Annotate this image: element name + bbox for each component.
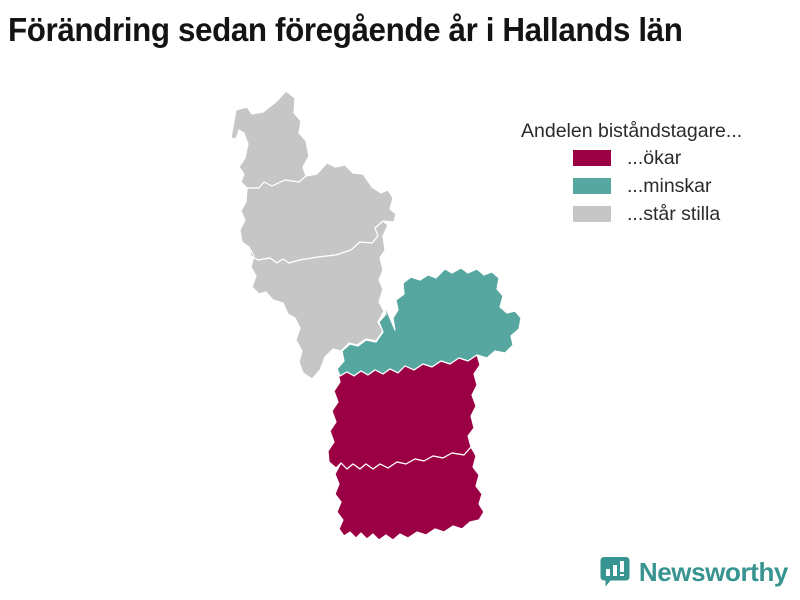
- legend-label-unchanged: ...står stilla: [627, 203, 720, 225]
- page-title: Förändring sedan föregående år i Halland…: [8, 8, 753, 52]
- legend-item-increase[interactable]: ...ökar: [515, 144, 795, 172]
- legend: Andelen biståndstagare... ...ökar ...min…: [515, 118, 795, 228]
- newsworthy-logo[interactable]: Newsworthy: [600, 552, 788, 592]
- legend-title: Andelen biståndstagare...: [515, 118, 795, 144]
- legend-item-decrease[interactable]: ...minskar: [515, 172, 795, 200]
- legend-swatch-unchanged: [573, 206, 611, 222]
- map-area-kungsbacka[interactable]: [231, 91, 309, 188]
- legend-label-decrease: ...minskar: [627, 175, 712, 197]
- legend-label-increase: ...ökar: [627, 147, 681, 169]
- newsworthy-bubble-chart-icon: [600, 556, 630, 588]
- newsworthy-wordmark: Newsworthy: [639, 557, 788, 587]
- legend-swatch-decrease: [573, 178, 611, 194]
- legend-swatch-increase: [573, 150, 611, 166]
- legend-item-unchanged[interactable]: ...står stilla: [515, 200, 795, 228]
